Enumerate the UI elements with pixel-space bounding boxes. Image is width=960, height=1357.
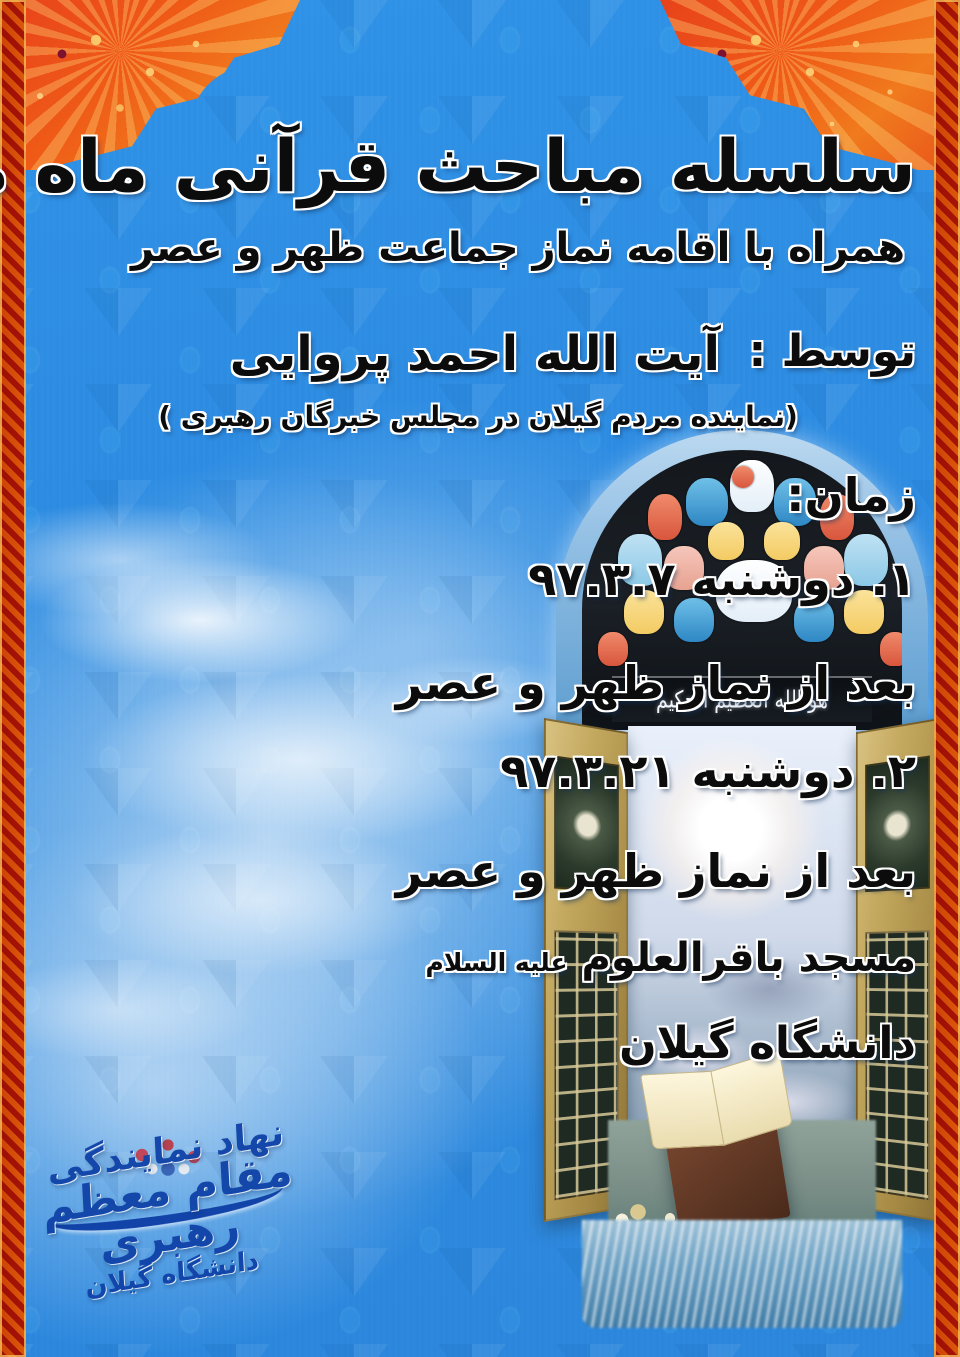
speaker-role: (نماینده مردم گیلان در مجلس خبرگان رهبری… [40, 403, 916, 431]
session-2-time: بعد از نماز ظهر و عصر [396, 848, 916, 894]
venue-honorific: علیه السلام [426, 948, 568, 977]
venue-place: دانشگاه گیلان [619, 1022, 916, 1066]
venue-name-line: مسجد باقرالعلوم علیه السلام [426, 938, 916, 978]
venue-name: مسجد باقرالعلوم [582, 935, 916, 981]
session-2-date: ۲. دوشنبه ۹۷.۳.۲۱ [500, 748, 916, 794]
speaker-label: توسط : [749, 330, 916, 374]
time-label: زمان: [786, 472, 916, 518]
speaker-name: آیت الله احمد پروایی [230, 330, 720, 378]
poster-title: سلسله مباحث قرآنی ماه مبارک رمضان [44, 130, 916, 202]
poster-text-content: سلسله مباحث قرآنی ماه مبارک رمضان همراه … [0, 0, 960, 1357]
session-1-time: بعد از نماز ظهر و عصر [396, 660, 916, 706]
poster-subtitle: همراه با اقامه نماز جماعت ظهر و عصر [120, 228, 916, 268]
ramadan-quran-lectures-poster: هو الله العظیم الحکیم سلسله مباحث قرآنی … [0, 0, 960, 1357]
session-1-date: ۱. دوشنبه ۹۷.۳.۷ [528, 556, 916, 602]
